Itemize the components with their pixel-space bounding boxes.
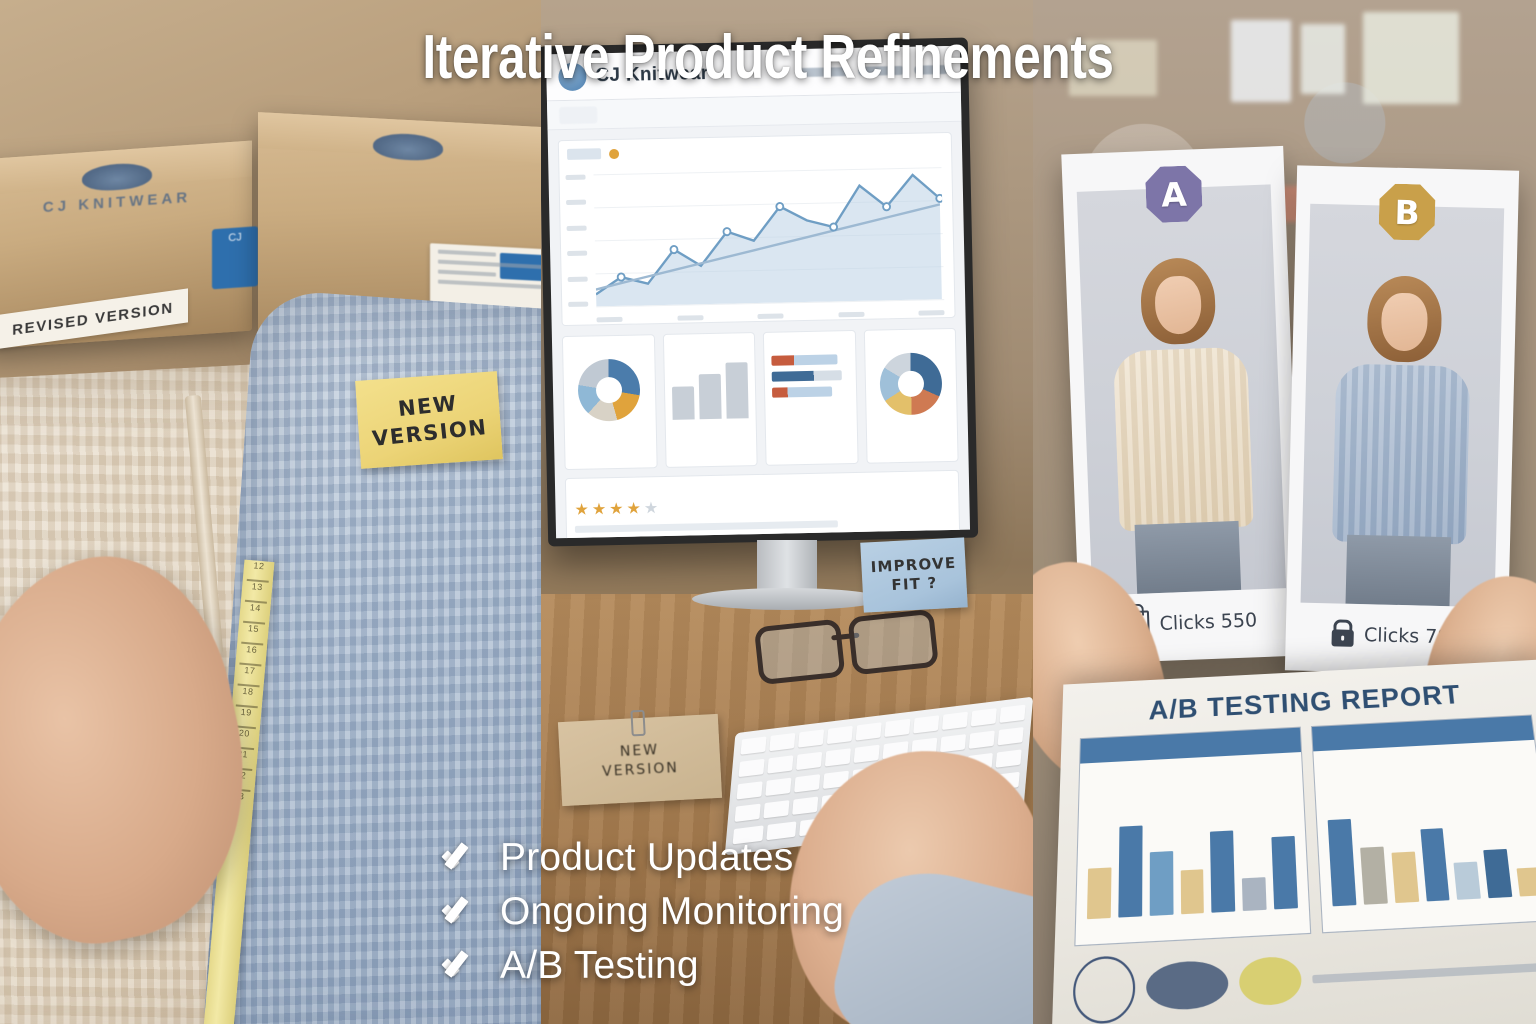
- sales-line-chart: [594, 167, 945, 306]
- monitor-stand-base: [692, 588, 882, 610]
- star-rating: ★ ★ ★ ★ ★: [574, 495, 950, 519]
- report-chart-left: [1074, 727, 1311, 947]
- lens-left: [754, 619, 846, 686]
- widget-title: [570, 342, 647, 354]
- product-sweater-blue: [1332, 363, 1470, 545]
- check-icon: [440, 951, 480, 981]
- star-icon: ★: [574, 503, 589, 519]
- horizontal-bar-chart: [771, 354, 848, 398]
- bullet-label: Ongoing Monitoring: [500, 890, 844, 934]
- infographic-canvas: CJ KNITWEAR CJ REVISED VERSION 12 1: [0, 0, 1536, 1024]
- star-icon-empty: ★: [644, 501, 659, 517]
- tape-mark: 18: [233, 685, 264, 698]
- tape-mark: 12: [244, 560, 275, 573]
- widget-title: [671, 340, 748, 352]
- review-card-title: [574, 479, 950, 497]
- report-section-header: [1312, 716, 1534, 752]
- line-chart-header: [567, 141, 943, 160]
- channel-bars-card: [763, 330, 858, 466]
- report-blob-dark: [1146, 959, 1229, 1011]
- handwritten-note-line-1: NEW: [620, 741, 660, 759]
- bullet-ongoing-monitoring: Ongoing Monitoring: [440, 890, 844, 934]
- model-jeans: [1135, 520, 1242, 593]
- panel-ab-testing: A Clicks 550 B: [1033, 0, 1536, 1024]
- sticky-note-improve-fit: IMPROVE FIT ?: [860, 537, 968, 612]
- bullet-label: Product Updates: [500, 836, 794, 880]
- mini-bar-chart: [671, 356, 749, 420]
- check-icon: [440, 843, 480, 873]
- tape-mark: 14: [240, 601, 271, 614]
- sticky-note-line-2: VERSION: [371, 414, 489, 453]
- lock-icon: [1332, 629, 1354, 647]
- variant-b-photo: [1301, 204, 1505, 608]
- performance-donut-card: [863, 328, 958, 464]
- model-figure: [1079, 241, 1286, 596]
- bullet-product-updates: Product Updates: [440, 836, 844, 880]
- handwritten-note-line-2: VERSION: [602, 759, 679, 779]
- x-axis-ticks: [596, 310, 944, 322]
- shipping-box-front: CJ KNITWEAR CJ REVISED VERSION: [0, 141, 252, 350]
- line-chart-card: [558, 132, 956, 326]
- report-chart-right: [1311, 714, 1536, 933]
- donut-chart-secondary: [879, 352, 942, 415]
- tape-mark: 13: [242, 581, 273, 594]
- model-figure: [1301, 260, 1503, 608]
- status-dot-icon: [609, 148, 619, 158]
- handwritten-note: NEW VERSION: [558, 714, 722, 806]
- lens-right: [847, 609, 939, 676]
- chart-filter-chip[interactable]: [567, 148, 601, 160]
- report-footer: [1072, 933, 1536, 1024]
- ab-testing-report-document: A/B TESTING REPORT: [1050, 659, 1536, 1024]
- page-title: Iterative Product Refinements: [154, 22, 1383, 93]
- model-jeans: [1346, 535, 1452, 606]
- tab-overview[interactable]: [559, 106, 598, 124]
- paper-clip-icon: [630, 710, 645, 737]
- variant-a-photo: [1077, 184, 1286, 595]
- tape-mark: 15: [238, 622, 269, 635]
- star-icon: ★: [626, 502, 641, 518]
- dashboard-widgets-row: [562, 328, 959, 470]
- sticky-note-line-1: IMPROVE: [870, 553, 957, 577]
- feature-bullet-list: Product Updates Ongoing Monitoring A/B T…: [440, 836, 844, 988]
- chart-legend-label: [627, 147, 644, 158]
- product-sweater-cream: [1113, 346, 1254, 532]
- report-chart-grid: [1074, 714, 1536, 946]
- review-text-line: [575, 520, 838, 533]
- report-section-header: [1080, 728, 1301, 764]
- revised-version-text: REVISED VERSION: [12, 299, 174, 339]
- y-axis-ticks: [566, 174, 595, 307]
- report-blob-yellow: [1239, 956, 1303, 1007]
- sticky-note-line-2: FIT ?: [891, 574, 938, 596]
- tape-mark: 16: [236, 643, 267, 656]
- report-paragraph-line: [1312, 961, 1536, 983]
- widget-title: [871, 336, 948, 348]
- tape-mark: 17: [235, 664, 266, 677]
- trend-mini-card: [662, 332, 757, 468]
- handling-sticker: CJ: [212, 226, 258, 289]
- report-bar-chart-left: [1087, 801, 1298, 920]
- check-icon: [440, 897, 480, 927]
- donut-chart: [578, 358, 641, 421]
- customer-review-card: ★ ★ ★ ★ ★: [565, 470, 961, 538]
- label-line: [438, 270, 496, 277]
- variant-a-clicks-label: Clicks 550: [1159, 609, 1257, 635]
- star-icon: ★: [592, 502, 607, 518]
- label-line: [438, 280, 541, 289]
- bullet-ab-testing: A/B Testing: [440, 944, 844, 988]
- bullet-label: A/B Testing: [500, 944, 699, 988]
- size-distribution-card: [562, 334, 657, 470]
- label-line: [438, 250, 496, 257]
- variant-badge-b: B: [1378, 183, 1435, 240]
- report-icon-circle: [1072, 955, 1135, 1024]
- widget-title: [771, 338, 848, 350]
- computer-monitor: CJ Knitwear: [541, 38, 978, 547]
- star-icon: ★: [609, 502, 624, 518]
- report-bar-chart-right: [1326, 788, 1536, 906]
- monitor-stand-neck: [757, 540, 817, 592]
- sticky-note-new-version: NEW VERSION: [355, 371, 503, 469]
- monitor-screen: CJ Knitwear: [546, 46, 970, 539]
